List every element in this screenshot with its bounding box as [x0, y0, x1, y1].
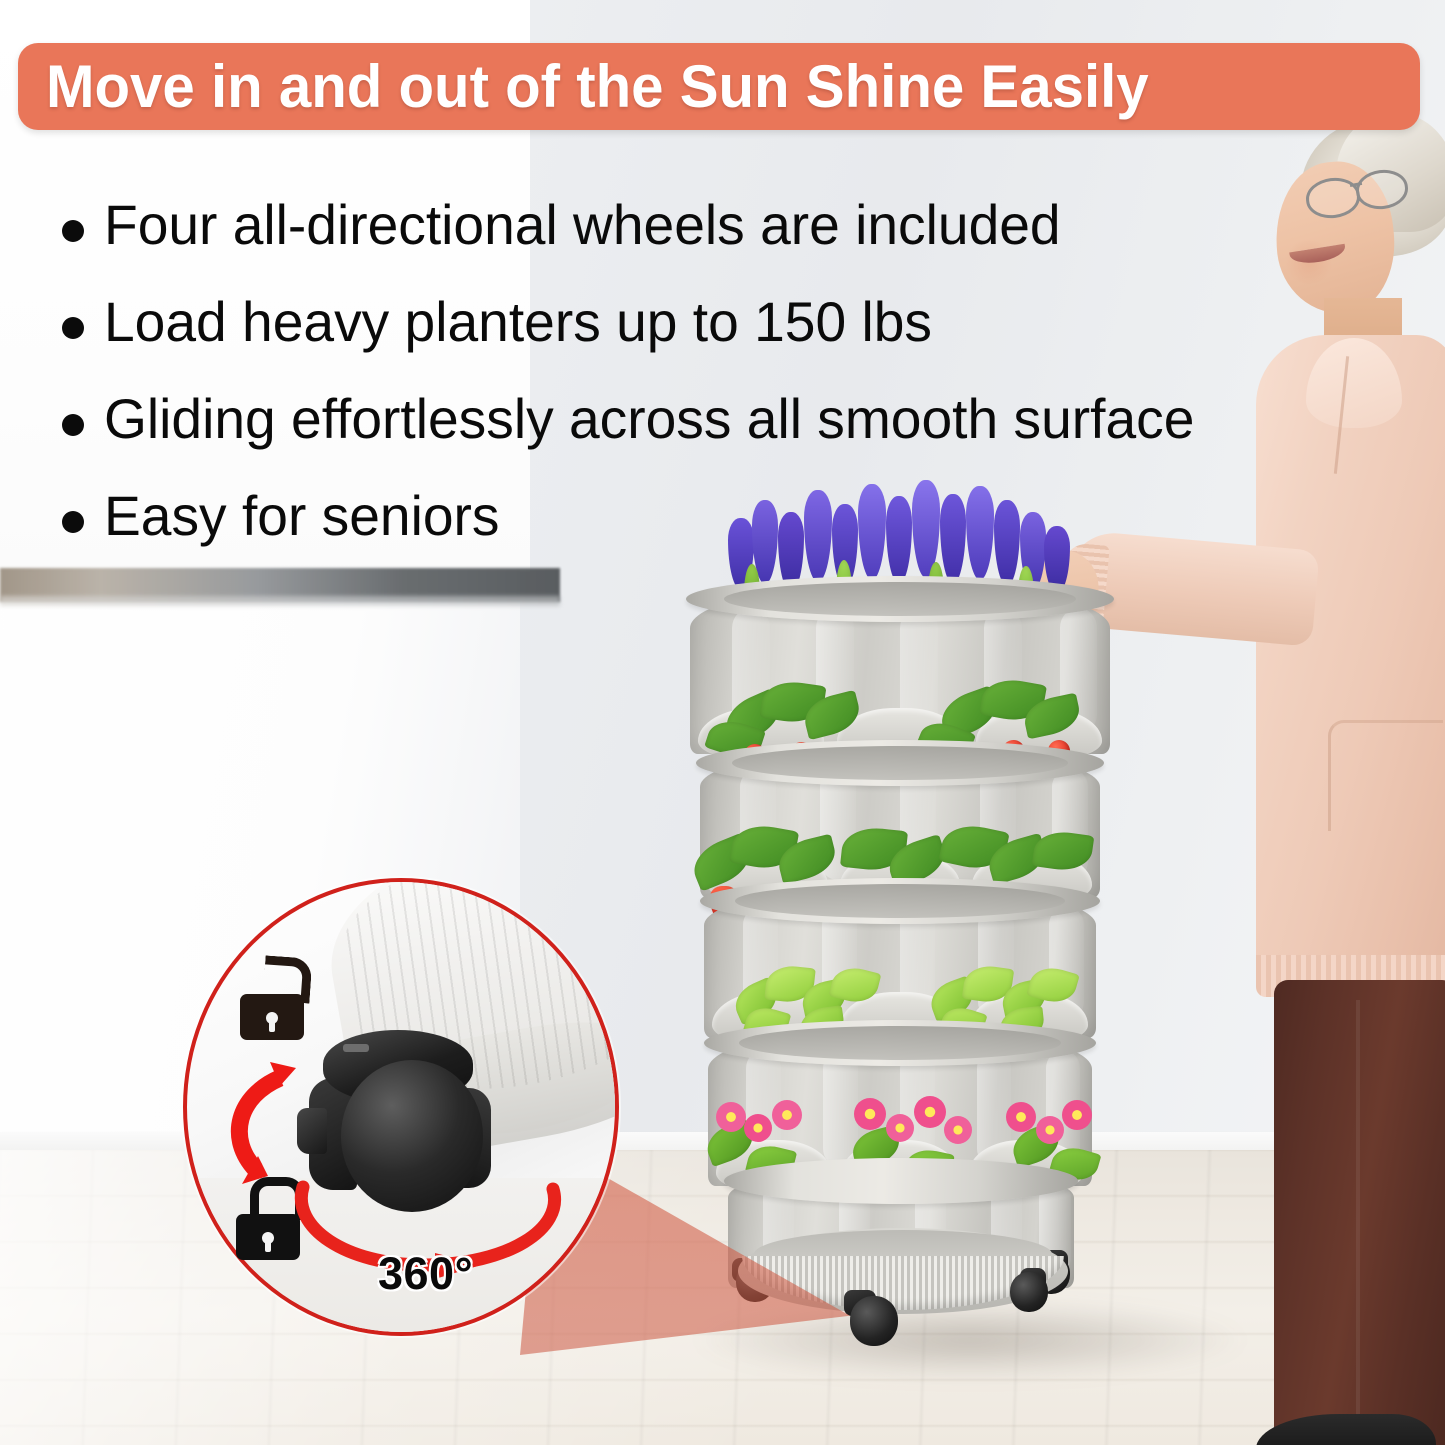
background-counter-shadow — [0, 596, 560, 606]
bullet-dot-icon — [62, 220, 84, 242]
feature-bullet-4: Easy for seniors — [62, 487, 1422, 584]
headline-banner: Move in and out of the Sun Shine Easily — [18, 43, 1420, 130]
caster-swivel-slot — [343, 1044, 369, 1052]
feature-bullet-4-text: Easy for seniors — [104, 487, 499, 546]
bullet-dot-icon — [62, 511, 84, 533]
feature-bullet-1-text: Four all-directional wheels are included — [104, 196, 1061, 255]
feature-bullet-2-text: Load heavy planters up to 150 lbs — [104, 293, 932, 352]
feature-bullet-2: Load heavy planters up to 150 lbs — [62, 293, 1422, 390]
caster-wheel-front-left — [844, 1290, 900, 1346]
feature-bullet-3: Gliding effortlessly across all smooth s… — [62, 390, 1422, 487]
pants-seam — [1356, 1000, 1360, 1430]
tier-1-inner — [724, 582, 1077, 616]
feature-bullet-3-text: Gliding effortlessly across all smooth s… — [104, 390, 1194, 449]
product-feature-image: 360° Move in and out of the Sun Shine Ea… — [0, 0, 1445, 1445]
headline-text: Move in and out of the Sun Shine Easily — [46, 52, 1149, 121]
feature-bullet-1: Four all-directional wheels are included — [62, 196, 1422, 293]
cardigan-pocket — [1328, 720, 1443, 831]
tier-3-inner — [735, 884, 1064, 918]
bullet-dot-icon — [62, 317, 84, 339]
tier-4-inner — [739, 1026, 1062, 1060]
rotation-label: 360° — [378, 1248, 473, 1300]
tier-5-rim — [724, 1158, 1078, 1204]
tier-2-inner — [732, 746, 1068, 780]
bullet-dot-icon — [62, 414, 84, 436]
feature-bullet-list: Four all-directional wheels are included… — [62, 196, 1422, 584]
unlock-icon — [240, 968, 304, 1040]
caster-wheel-front-right — [1006, 1268, 1050, 1314]
stackable-planter-tower — [690, 480, 1110, 1335]
